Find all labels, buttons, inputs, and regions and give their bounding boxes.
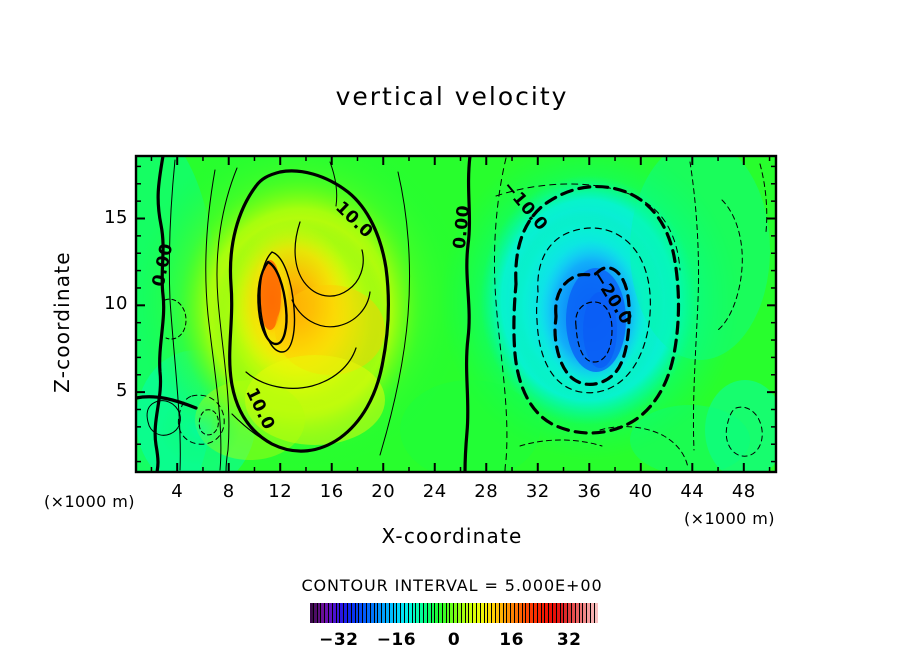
figure-canvas: vertical velocity	[0, 0, 904, 654]
colorbar-tick-label: −32	[314, 630, 364, 650]
x-tick-label: 12	[260, 481, 300, 502]
colorbar	[310, 603, 598, 623]
colorbar-tick-label: −16	[371, 630, 421, 650]
x-tick-label: 16	[312, 481, 352, 502]
y-tick-label: 10	[94, 293, 128, 314]
contour-label: 0.00	[450, 204, 474, 250]
y-tick-label: 15	[94, 207, 128, 228]
x-tick-label: 44	[672, 481, 712, 502]
x-tick-label: 48	[724, 481, 764, 502]
x-tick-label: 32	[518, 481, 558, 502]
colorbar-cell	[595, 603, 598, 623]
x-unit-note-left: (×1000 m)	[44, 492, 135, 511]
contour-field	[80, 130, 785, 530]
x-tick-label: 40	[621, 481, 661, 502]
y-tick-label: 5	[94, 380, 128, 401]
colorbar-tick-label: 16	[487, 630, 537, 650]
x-tick-label: 28	[466, 481, 506, 502]
colorbar-caption: CONTOUR INTERVAL = 5.000E+00	[0, 576, 904, 595]
x-tick-label: 20	[363, 481, 403, 502]
contour-plot	[0, 0, 904, 654]
y-axis-label: Z-coordinate	[50, 222, 74, 422]
x-unit-note-right: (×1000 m)	[684, 509, 775, 528]
colorbar-tick-label: 32	[544, 630, 594, 650]
x-tick-label: 36	[569, 481, 609, 502]
x-tick-label: 8	[209, 481, 249, 502]
x-tick-label: 4	[157, 481, 197, 502]
x-tick-label: 24	[415, 481, 455, 502]
colorbar-tick-label: 0	[429, 630, 479, 650]
